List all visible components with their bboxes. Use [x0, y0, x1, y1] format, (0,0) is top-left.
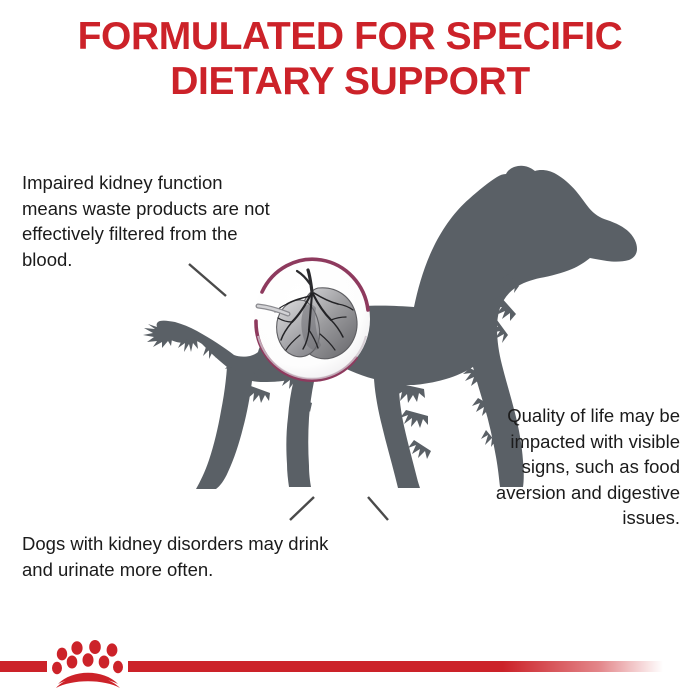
- callout-quality-of-life: Quality of life may be impacted with vis…: [465, 403, 680, 531]
- royal-canin-crown-logo: [52, 640, 123, 688]
- kidney-highlight-callout: [254, 258, 370, 380]
- dog-kidney-illustration: [0, 0, 700, 700]
- footer-brand-bar: [0, 640, 663, 688]
- infographic-canvas: FORMULATED FOR SPECIFIC DIETARY SUPPORT: [0, 0, 700, 700]
- brand-bar-right: [128, 661, 663, 672]
- callout-drink-urinate: Dogs with kidney disorders may drink and…: [22, 531, 352, 582]
- callout-kidney-function: Impaired kidney function means waste pro…: [22, 170, 272, 272]
- brand-bar-left: [0, 661, 47, 672]
- leader-line-quality-diagonal: [368, 497, 388, 520]
- leader-line-drink-diagonal: [290, 497, 314, 520]
